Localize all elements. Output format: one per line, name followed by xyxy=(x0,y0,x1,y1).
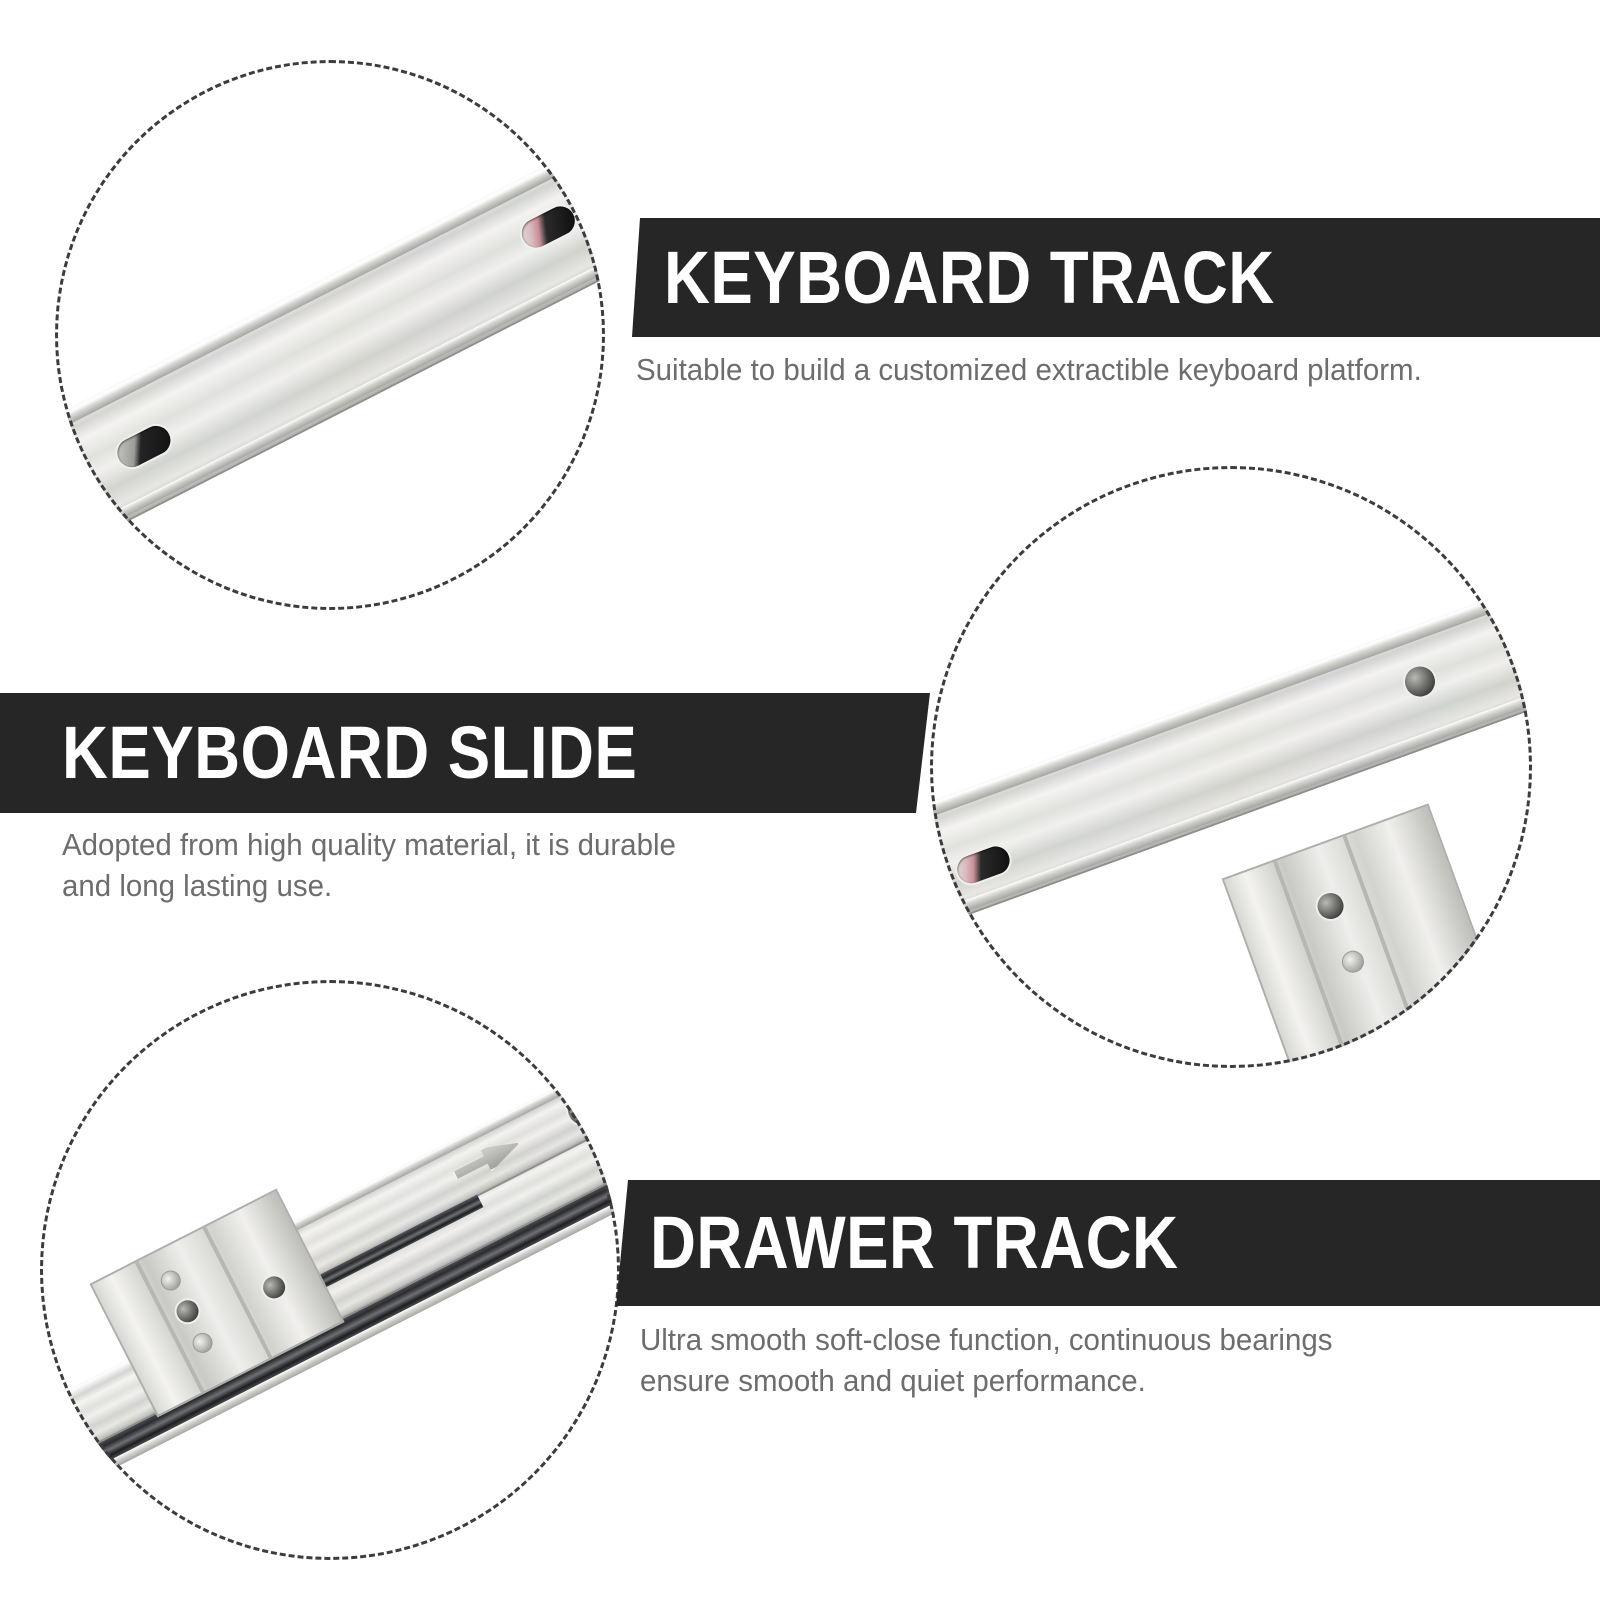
panel-title-keyboard-slide: KEYBOARD SLIDE xyxy=(62,716,637,790)
panel-title-drawer-track: DRAWER TRACK xyxy=(650,1206,1178,1280)
panel-subtitle-keyboard-slide: Adopted from high quality material, it i… xyxy=(62,825,822,907)
photo-circle-outline-2 xyxy=(930,466,1532,1068)
panel-title-keyboard-track: KEYBOARD TRACK xyxy=(664,241,1275,315)
photo-circle-outline-3 xyxy=(40,980,620,1560)
photo-circle-outline-1 xyxy=(55,60,605,610)
banner-keyboard-track: KEYBOARD TRACK xyxy=(632,218,1600,337)
banner-drawer-track: DRAWER TRACK xyxy=(616,1180,1600,1306)
panel-subtitle-drawer-track: Ultra smooth soft-close function, contin… xyxy=(640,1320,1533,1402)
banner-keyboard-slide: KEYBOARD SLIDE xyxy=(0,693,930,813)
product-infographic: KEYBOARD TRACK Suitable to build a custo… xyxy=(0,0,1600,1600)
panel-subtitle-keyboard-track: Suitable to build a customized extractib… xyxy=(636,350,1529,391)
